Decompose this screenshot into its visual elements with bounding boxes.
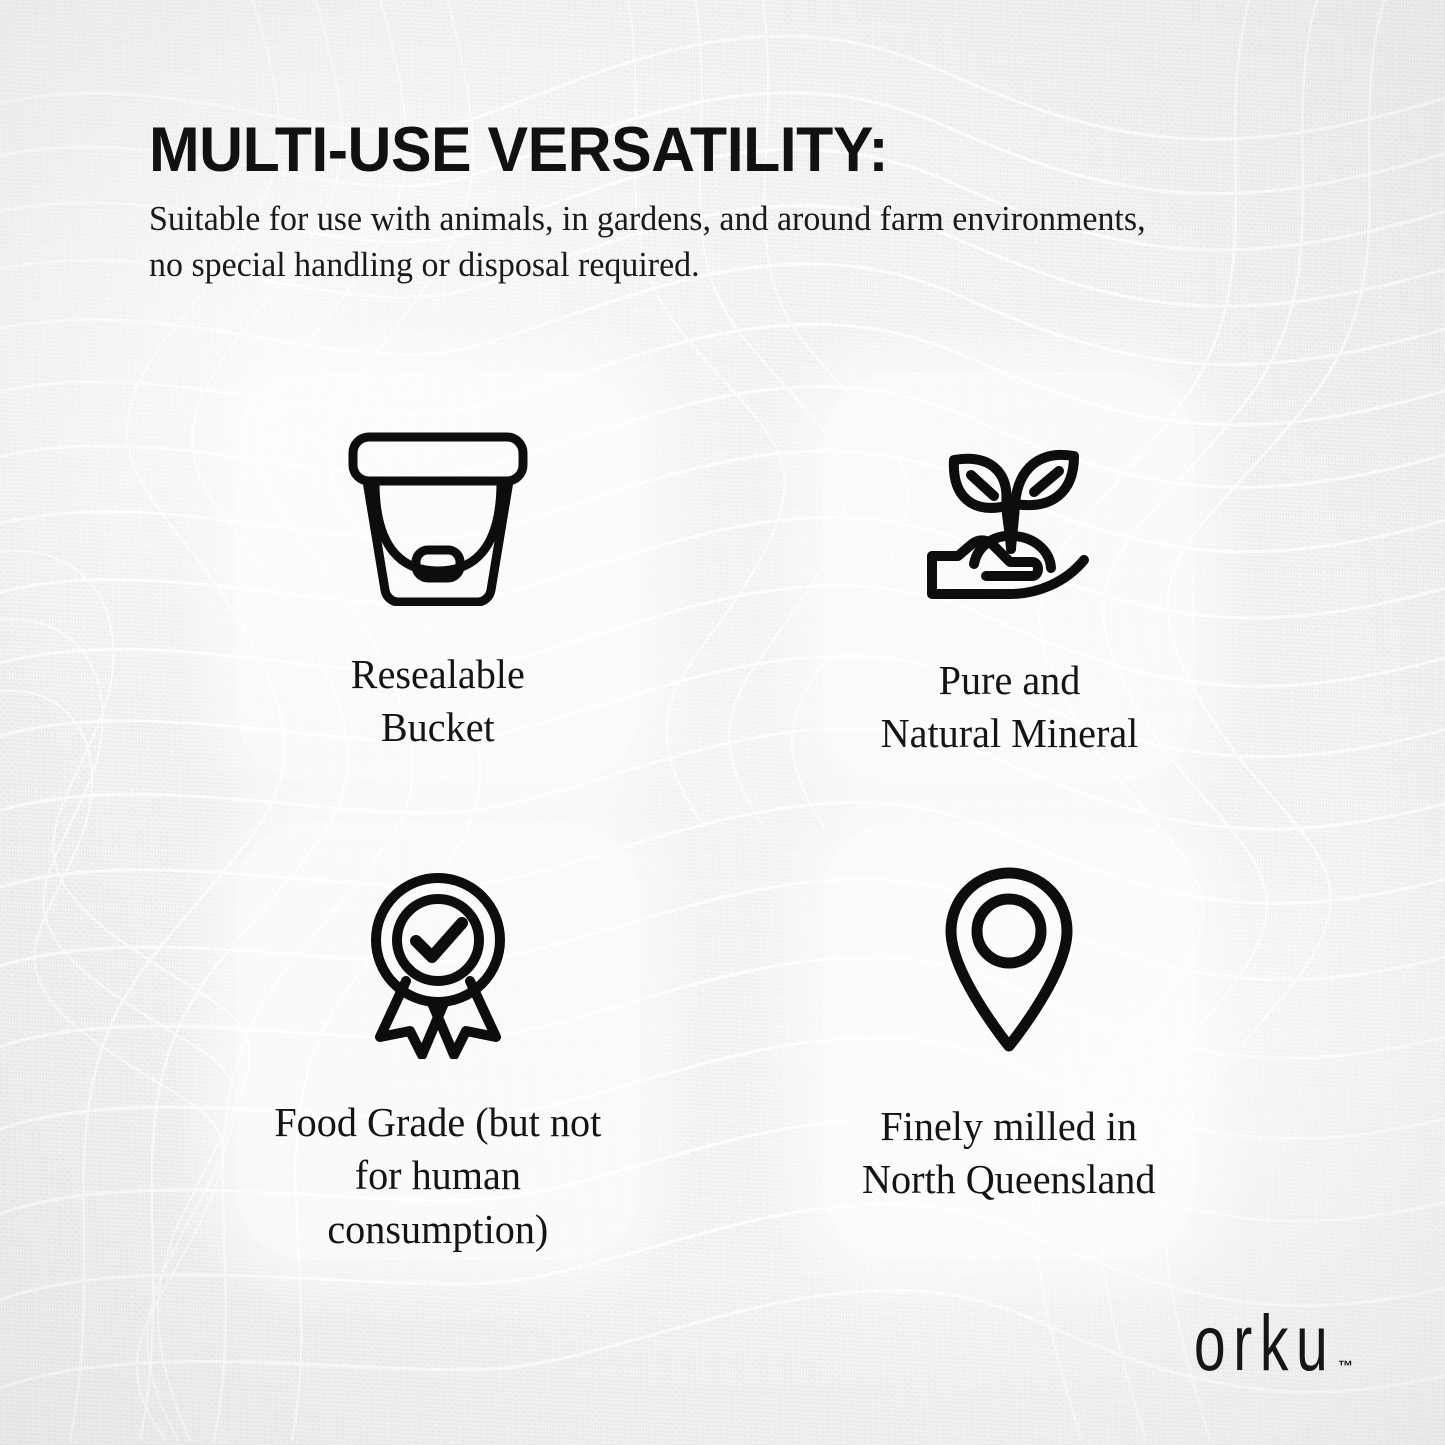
brand-wordmark: orku — [1194, 1304, 1335, 1383]
feature-label: Pure and Natural Mineral — [880, 654, 1138, 761]
icon-container — [914, 414, 1104, 626]
feature-card-resealable-bucket: Resealable Bucket — [236, 372, 640, 782]
bucket-icon — [344, 430, 532, 606]
brand-logo: orku ™ — [1167, 1315, 1353, 1383]
icon-container — [358, 858, 518, 1070]
award-badge-icon — [358, 869, 518, 1059]
icon-container — [344, 412, 532, 624]
trademark-symbol: ™ — [1338, 1358, 1353, 1375]
feature-card-food-grade: Food Grade (but not for human consumptio… — [236, 822, 640, 1260]
feature-grid: Resealable Bucket — [0, 0, 1445, 1445]
sprout-hand-icon — [914, 434, 1104, 606]
feature-card-pure-natural-mineral: Pure and Natural Mineral — [823, 372, 1195, 782]
feature-label: Finely milled in North Queensland — [862, 1100, 1155, 1207]
map-pin-icon — [934, 863, 1084, 1053]
icon-container — [934, 852, 1084, 1064]
feature-label: Food Grade (but not for human consumptio… — [275, 1096, 602, 1256]
feature-label: Resealable Bucket — [351, 648, 525, 755]
infographic-canvas: MULTI-USE VERSATILITY: Suitable for use … — [0, 0, 1445, 1445]
feature-card-finely-milled: Finely milled in North Queensland — [823, 822, 1195, 1260]
